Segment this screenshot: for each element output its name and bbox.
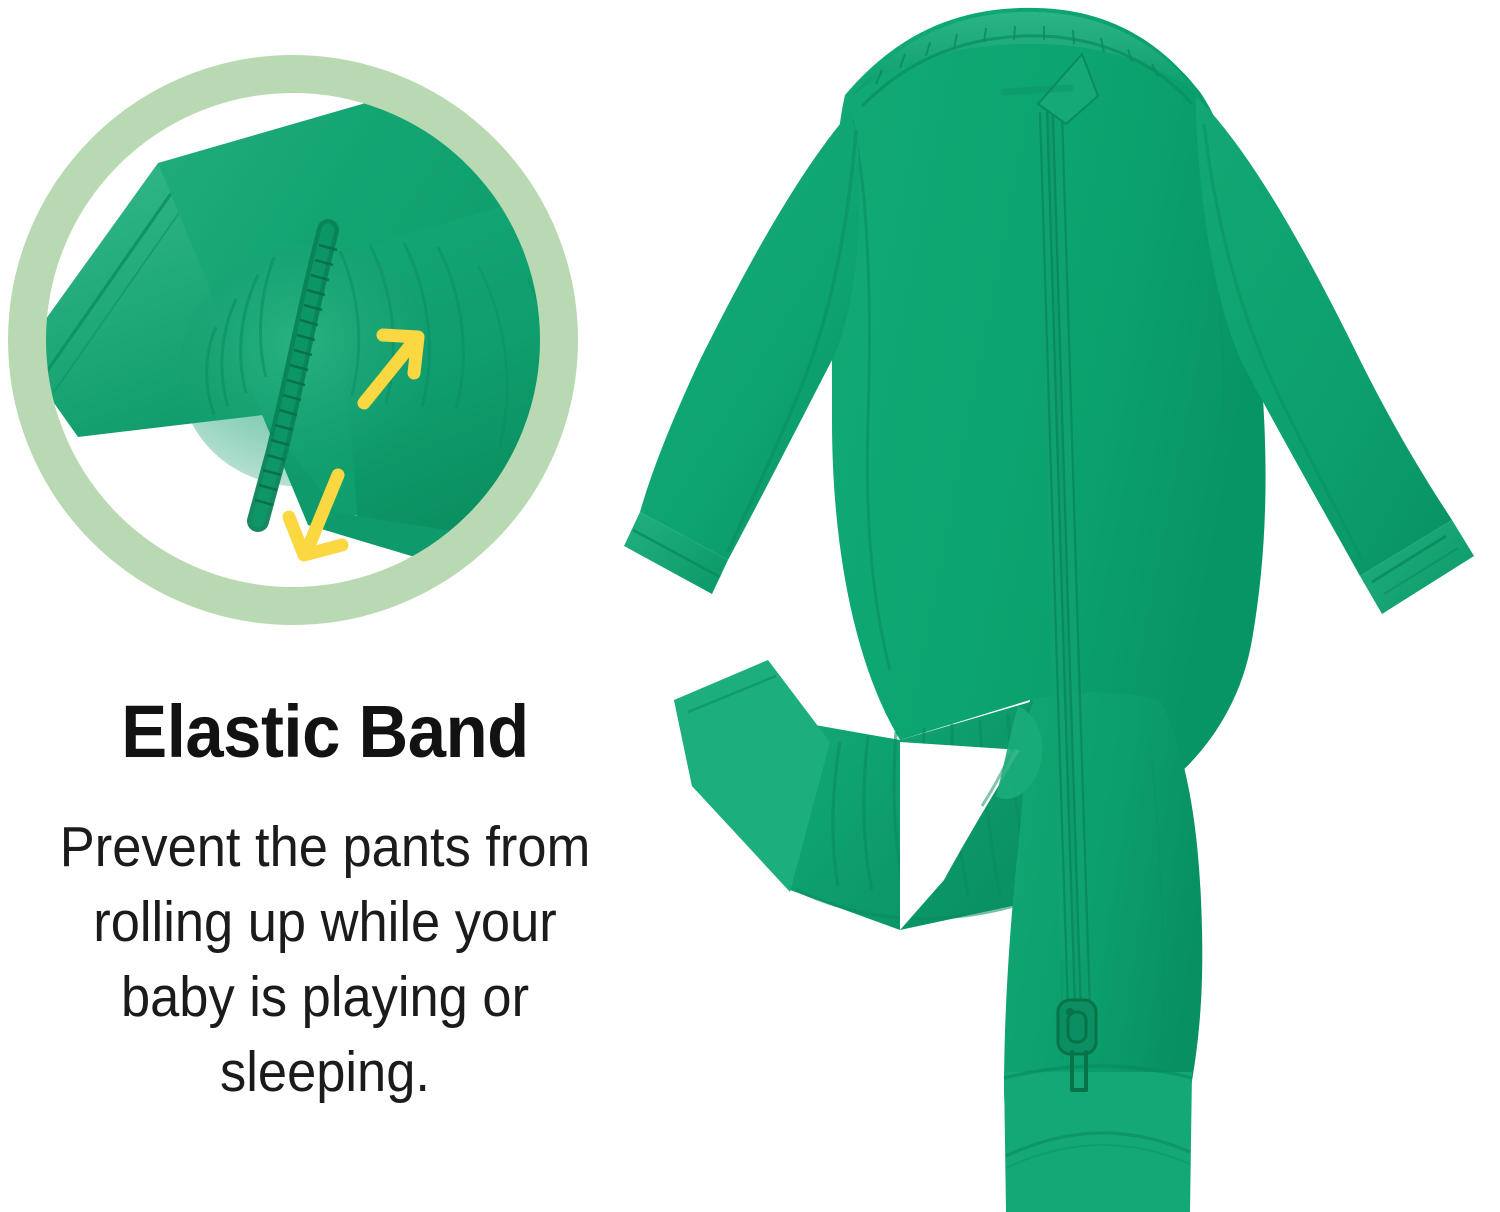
left-sleeve [640,112,859,560]
product-feature-graphic: Elastic Band Prevent the pants from roll… [0,0,1500,1212]
feature-description: Prevent the pants from rolling up while … [26,810,624,1110]
elastic-band-detail-inset [8,55,578,625]
feature-title: Elastic Band [23,690,628,774]
inner-label-tag [1004,88,1070,92]
feature-copy-block: Elastic Band Prevent the pants from roll… [0,690,650,1110]
product-photo [600,0,1500,1212]
